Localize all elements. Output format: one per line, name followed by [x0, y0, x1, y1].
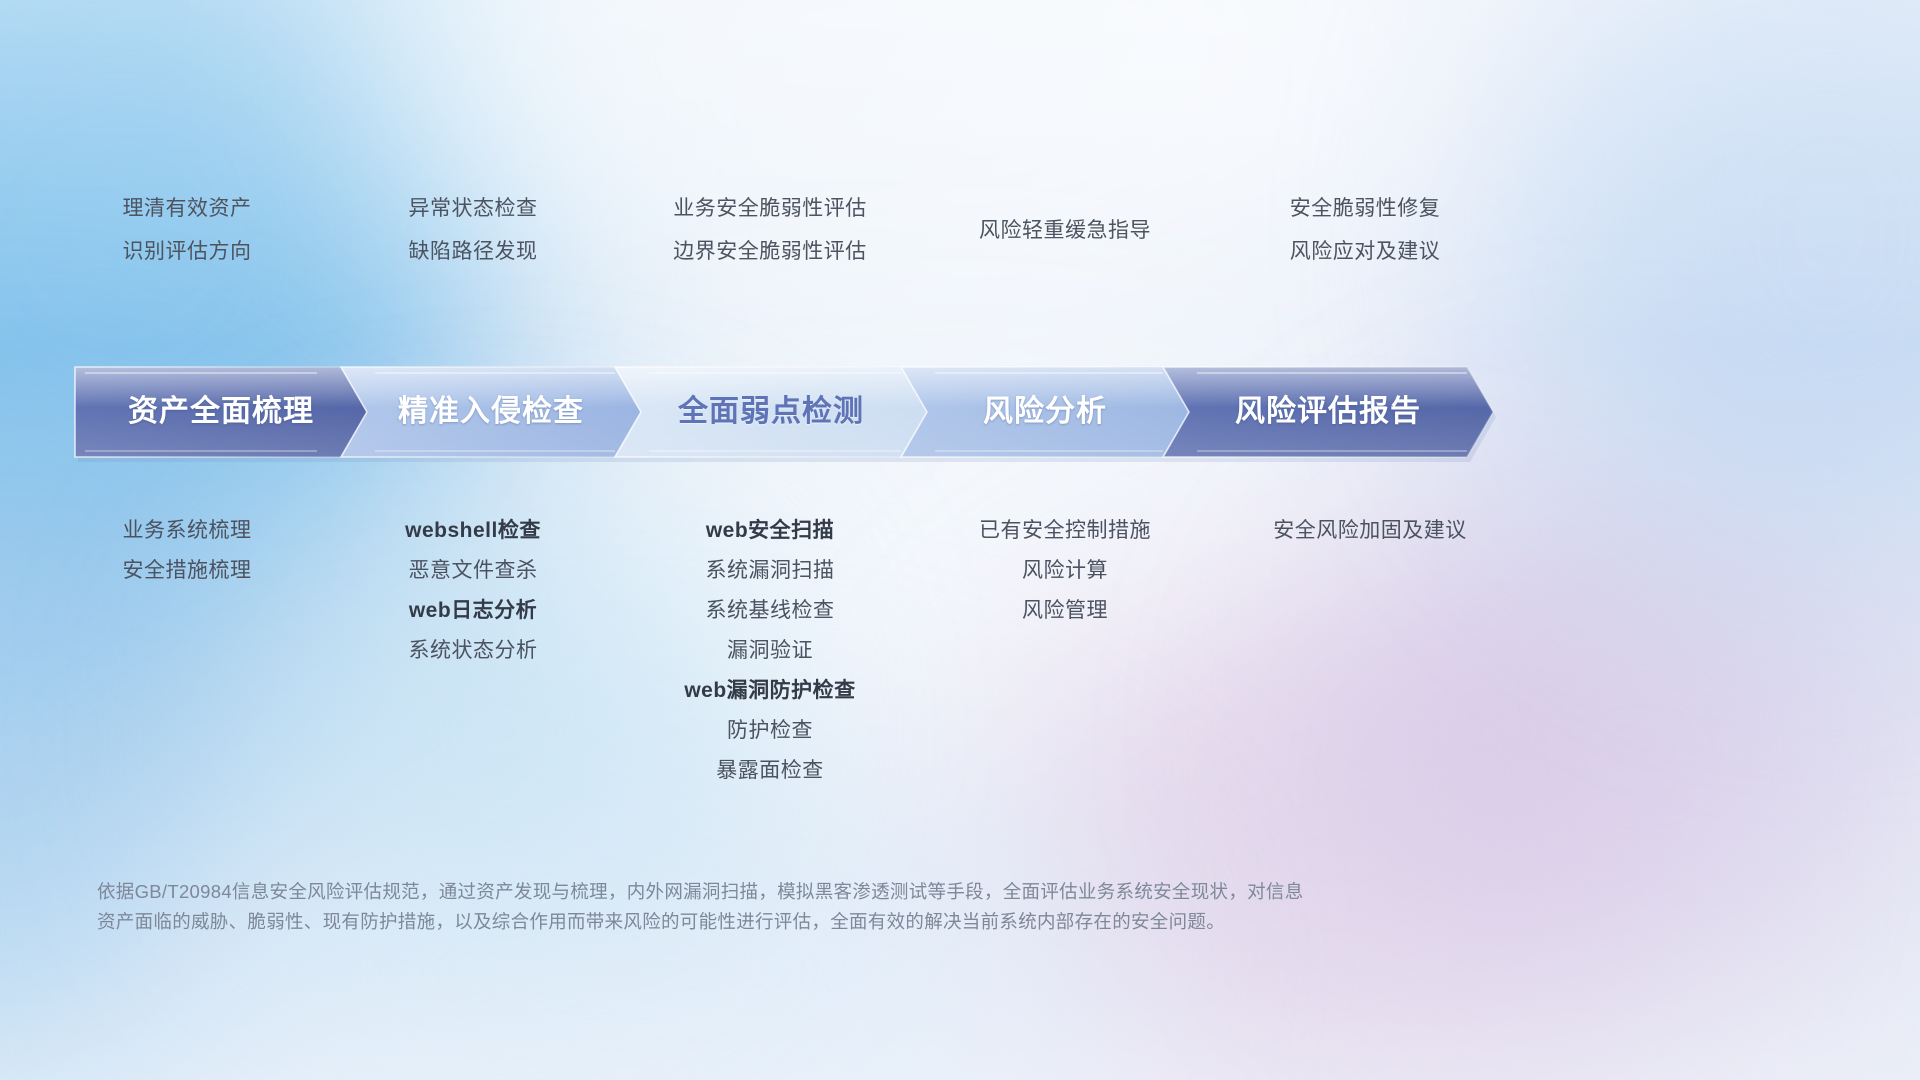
bottom-item: 恶意文件查杀 — [409, 560, 538, 581]
bottom-item: web安全扫描 — [706, 520, 834, 541]
top-item: 业务安全脆弱性评估 — [673, 198, 867, 219]
bottom-item: web日志分析 — [409, 600, 537, 621]
flow-step-3[interactable]: 全面弱点检测 — [615, 367, 927, 457]
top-item: 缺陷路径发现 — [409, 241, 538, 262]
top-item: 安全脆弱性修复 — [1290, 198, 1441, 219]
bottom-item: webshell检查 — [405, 520, 541, 541]
flow-step-label: 风险分析 — [983, 397, 1107, 427]
flow-step-4[interactable]: 风险分析 — [901, 367, 1189, 457]
bottom-item: 系统状态分析 — [409, 640, 538, 661]
top-column-2: 异常状态检查缺陷路径发现 — [348, 198, 598, 262]
process-flow-steps: 资产全面梳理精准入侵检查全面弱点检测风险分析风险评估报告 — [75, 367, 1525, 457]
bottom-item: 风险计算 — [1022, 560, 1108, 581]
bottom-item: 安全措施梳理 — [123, 560, 252, 581]
top-item: 风险应对及建议 — [1290, 241, 1441, 262]
bottom-item: 暴露面检查 — [716, 760, 824, 781]
top-item: 识别评估方向 — [123, 241, 252, 262]
bottom-item: 漏洞验证 — [727, 640, 813, 661]
flow-step-label: 全面弱点检测 — [678, 397, 864, 427]
flow-step-label: 精准入侵检查 — [398, 397, 584, 427]
top-item: 理清有效资产 — [123, 198, 252, 219]
bottom-item: 防护检查 — [727, 720, 813, 741]
bottom-item: 风险管理 — [1022, 600, 1108, 621]
flow-step-2[interactable]: 精准入侵检查 — [341, 367, 641, 457]
bottom-item: 已有安全控制措施 — [979, 520, 1151, 541]
bottom-column-3: web安全扫描系统漏洞扫描系统基线检查漏洞验证web漏洞防护检查防护检查暴露面检… — [640, 520, 900, 781]
flow-step-5[interactable]: 风险评估报告 — [1163, 367, 1493, 457]
top-column-5: 安全脆弱性修复风险应对及建议 — [1240, 198, 1490, 262]
top-item: 风险轻重缓急指导 — [979, 220, 1151, 241]
bottom-column-4: 已有安全控制措施风险计算风险管理 — [940, 520, 1190, 621]
top-column-4: 风险轻重缓急指导 — [940, 220, 1190, 241]
top-column-1: 理清有效资产识别评估方向 — [62, 198, 312, 262]
bottom-column-1: 业务系统梳理安全措施梳理 — [62, 520, 312, 581]
footer-line-2: 资产面临的威胁、脆弱性、现有防护措施，以及综合作用而带来风险的可能性进行评估，全… — [97, 907, 1607, 937]
top-column-3: 业务安全脆弱性评估边界安全脆弱性评估 — [640, 198, 900, 262]
flow-step-label: 风险评估报告 — [1235, 397, 1421, 427]
footer-note: 依据GB/T20984信息安全风险评估规范，通过资产发现与梳理，内外网漏洞扫描，… — [97, 877, 1607, 937]
top-item: 边界安全脆弱性评估 — [673, 241, 867, 262]
bottom-item: 安全风险加固及建议 — [1273, 520, 1467, 541]
bottom-column-5: 安全风险加固及建议 — [1240, 520, 1500, 541]
flow-step-label: 资产全面梳理 — [128, 397, 314, 427]
bottom-item: 业务系统梳理 — [123, 520, 252, 541]
footer-line-1: 依据GB/T20984信息安全风险评估规范，通过资产发现与梳理，内外网漏洞扫描，… — [97, 877, 1607, 907]
bottom-item: web漏洞防护检查 — [684, 680, 855, 701]
top-item: 异常状态检查 — [409, 198, 538, 219]
bottom-item: 系统漏洞扫描 — [706, 560, 835, 581]
bottom-item: 系统基线检查 — [706, 600, 835, 621]
flow-step-1[interactable]: 资产全面梳理 — [75, 367, 367, 457]
bottom-column-2: webshell检查恶意文件查杀web日志分析系统状态分析 — [348, 520, 598, 661]
